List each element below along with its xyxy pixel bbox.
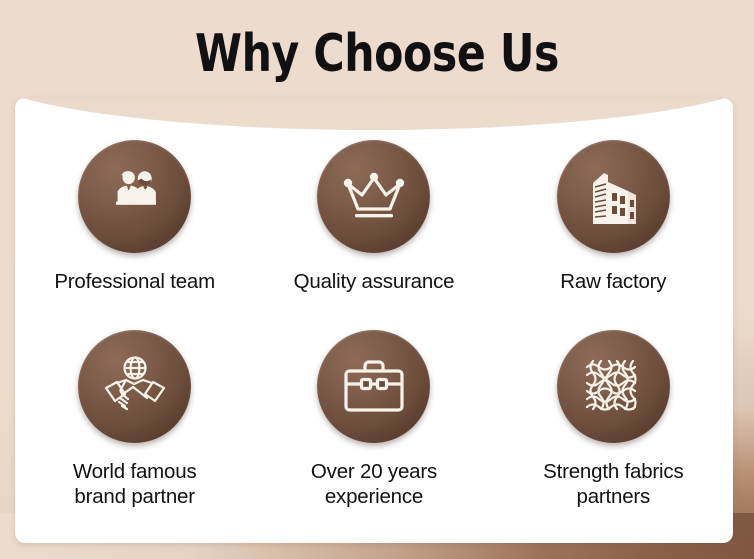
feature-label-line1: World famous bbox=[73, 460, 197, 483]
features-row-2: World famous brand partner bbox=[15, 330, 733, 520]
feature-label: World famous brand partner bbox=[73, 459, 197, 509]
feature-label: Strength fabrics partners bbox=[543, 459, 683, 509]
feature-label-line1: Quality assurance bbox=[294, 270, 455, 293]
feature-label-line2: partners bbox=[543, 484, 683, 509]
briefcase-icon bbox=[317, 330, 430, 443]
left-background-strip bbox=[0, 0, 16, 559]
feature-label: Professional team bbox=[54, 269, 215, 294]
feature-item-world-famous-brand-partner[interactable]: World famous brand partner bbox=[15, 330, 254, 520]
feature-item-strength-fabrics-partners[interactable]: Strength fabrics partners bbox=[494, 330, 733, 520]
features-grid: Professional team bbox=[15, 98, 733, 543]
feature-label: Quality assurance bbox=[294, 269, 455, 294]
features-card: Professional team bbox=[15, 98, 733, 543]
feature-label-line2: experience bbox=[311, 484, 437, 509]
right-background-strip bbox=[732, 0, 754, 559]
feature-label: Over 20 years experience bbox=[311, 459, 437, 509]
feature-label-line1: Strength fabrics bbox=[543, 460, 683, 483]
feature-label-line2: brand partner bbox=[73, 484, 197, 509]
why-choose-us-poster: Why Choose Us bbox=[0, 0, 754, 559]
team-icon bbox=[78, 140, 191, 253]
feature-label-line1: Over 20 years bbox=[311, 460, 437, 483]
feature-item-over-20-years-experience[interactable]: Over 20 years experience bbox=[254, 330, 493, 520]
feature-item-quality-assurance[interactable]: Quality assurance bbox=[254, 140, 493, 330]
handshake-globe-icon bbox=[78, 330, 191, 443]
page-title: Why Choose Us bbox=[68, 26, 686, 82]
crown-icon bbox=[317, 140, 430, 253]
factory-icon bbox=[557, 140, 670, 253]
feature-label-line1: Raw factory bbox=[560, 270, 666, 293]
feature-item-professional-team[interactable]: Professional team bbox=[15, 140, 254, 330]
features-row-1: Professional team bbox=[15, 140, 733, 330]
woven-fabric-icon bbox=[557, 330, 670, 443]
feature-label: Raw factory bbox=[560, 269, 666, 294]
feature-item-raw-factory[interactable]: Raw factory bbox=[494, 140, 733, 330]
feature-label-line1: Professional team bbox=[54, 270, 215, 293]
